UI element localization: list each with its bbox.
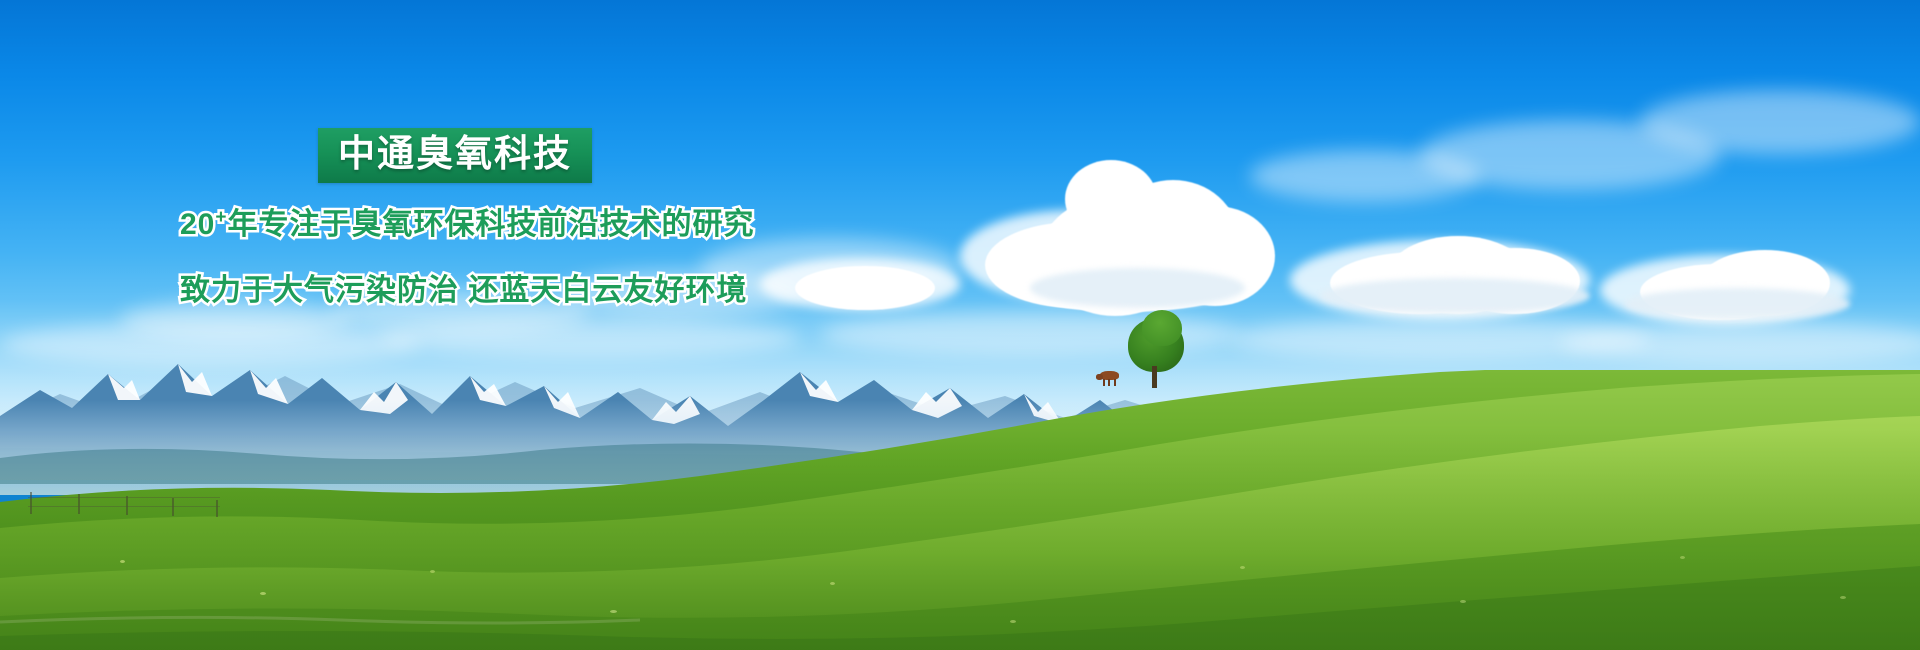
tagline-line-2: 致力于大气污染防治 还蓝天白云友好环境 [180, 265, 850, 309]
tagline-line-1: 20+年专注于臭氧环保科技前沿技术的研究 [180, 199, 850, 243]
tagline-plus-superscript: + [215, 207, 227, 228]
hero-banner: 中通臭氧科技 20+年专注于臭氧环保科技前沿技术的研究 致力于大气污染防治 还蓝… [0, 0, 1920, 650]
tagline-line-1-rest: 年专注于臭氧环保科技前沿技术的研究 [227, 208, 754, 241]
tagline-years-number: 20 [180, 208, 215, 241]
company-title: 中通臭氧科技 [338, 135, 572, 174]
company-title-badge: 中通臭氧科技 [318, 128, 592, 183]
grassland-foreground [0, 370, 1920, 650]
banner-text-block: 中通臭氧科技 20+年专注于臭氧环保科技前沿技术的研究 致力于大气污染防治 还蓝… [150, 128, 850, 309]
